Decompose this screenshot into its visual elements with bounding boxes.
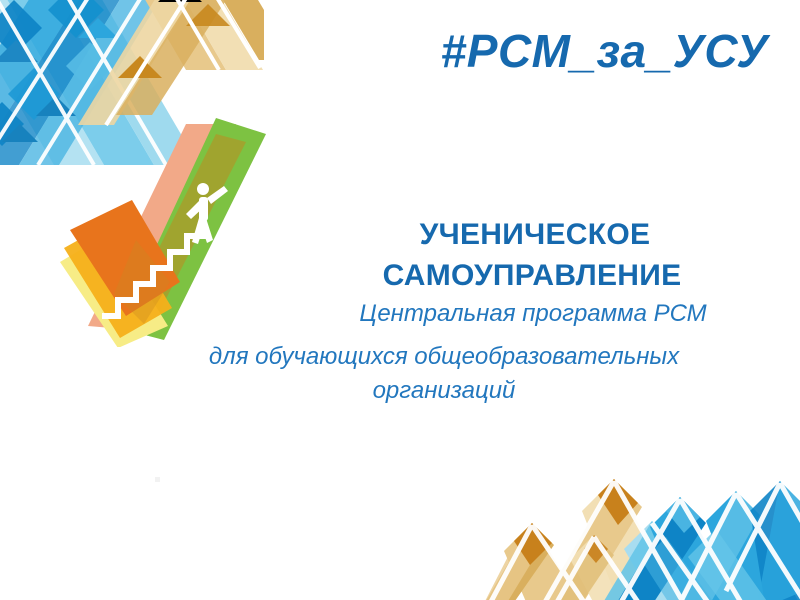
slide-canvas: #РСМ_за_УСУ УЧЕНИЧЕСКОЕ САМОУПРАВЛЕНИЕ Ц… [0,0,800,600]
faint-artifact-mark [155,477,160,482]
decoration-bottom-right [474,441,800,600]
subtitle-line-3: организаций [373,377,516,404]
page-title-line1: УЧЕНИЧЕСКОЕ [420,218,651,251]
hashtag-title: #РСМ_за_УСУ [300,24,768,78]
subtitle-line-2: для обучающихся общеобразовательных [209,343,679,370]
text-block: УЧЕНИЧЕСКОЕ САМОУПРАВЛЕНИЕ Центральная п… [110,214,770,408]
page-title: УЧЕНИЧЕСКОЕ САМОУПРАВЛЕНИЕ [110,214,770,296]
subtitle-lines-2-3: для обучающихся общеобразовательных орга… [110,340,770,408]
subtitle-line-1: Центральная программа РСМ [110,298,770,330]
page-title-line2: САМОУПРАВЛЕНИЕ [300,255,770,296]
